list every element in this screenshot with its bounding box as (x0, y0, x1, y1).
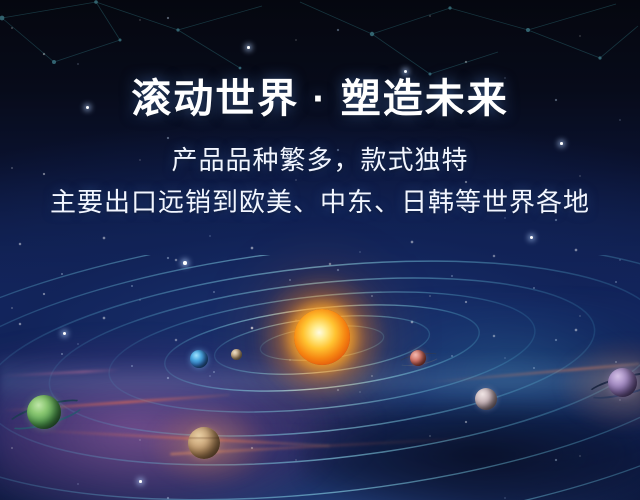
jupiter-planet (188, 427, 220, 459)
banner-text-block: 滚动世界 · 塑造未来 产品品种繁多，款式独特 主要出口远销到欧美、中东、日韩等… (0, 0, 640, 220)
star-bright (530, 236, 533, 239)
sun (294, 309, 350, 365)
small-tan-planet (231, 349, 242, 360)
star-bright (63, 332, 66, 335)
purple-ringed-planet (608, 368, 637, 397)
banner-headline: 滚动世界 · 塑造未来 (0, 0, 640, 122)
star-bright (183, 261, 187, 265)
space-banner: 滚动世界 · 塑造未来 产品品种繁多，款式独特 主要出口远销到欧美、中东、日韩等… (0, 0, 640, 500)
banner-subtitle-line-1: 产品品种繁多，款式独特 (0, 122, 640, 178)
earth-planet (190, 350, 208, 368)
banner-subtitle-line-2: 主要出口远销到欧美、中东、日韩等世界各地 (0, 178, 640, 220)
grey-moon-planet (475, 388, 497, 410)
red-ringed-planet (410, 350, 426, 366)
star-bright (139, 480, 142, 483)
nebula-dark-wash (300, 400, 640, 500)
light-streak (30, 429, 330, 447)
green-ringed-planet (27, 395, 61, 429)
light-streak (0, 369, 120, 377)
